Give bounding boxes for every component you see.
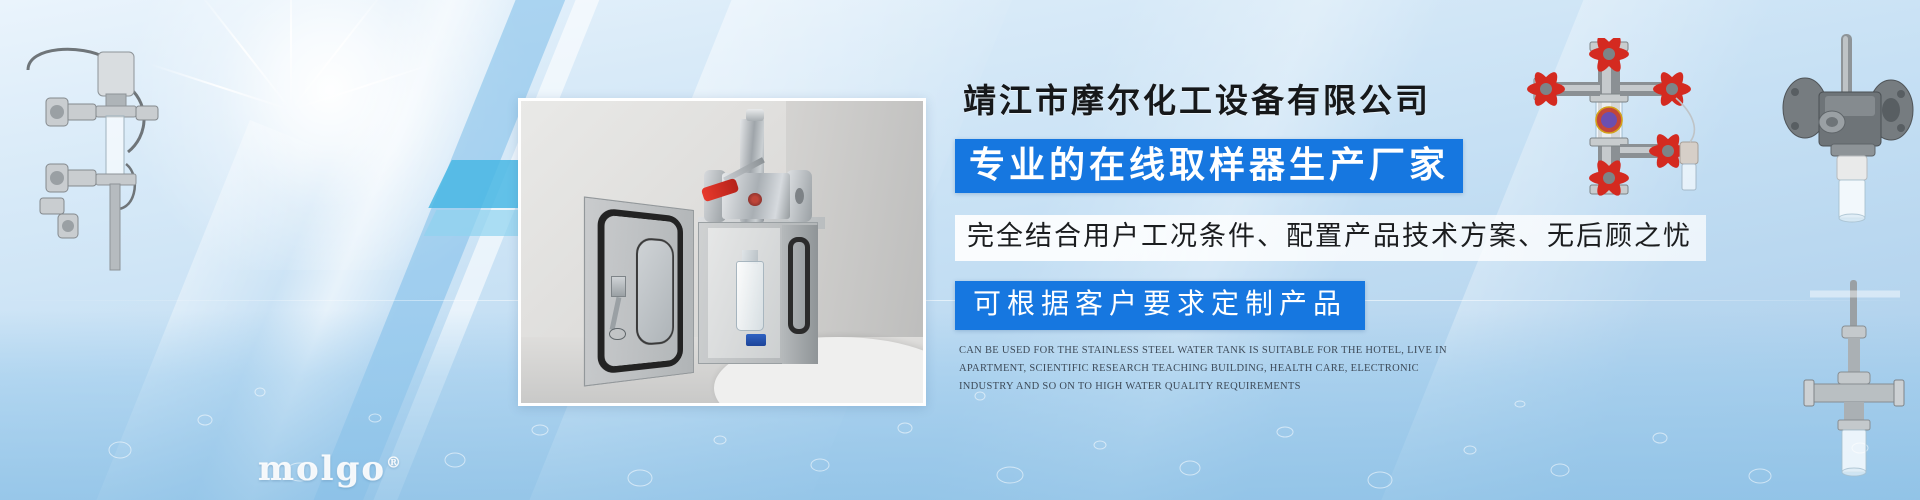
banner-copy: 靖江市摩尔化工设备有限公司 专业的在线取样器生产厂家 完全结合用户工况条件、配置… — [955, 70, 1735, 397]
tagline-custom-badge: 可根据客户要求定制产品 — [955, 281, 1365, 330]
sun-ray-icon — [291, 63, 434, 111]
company-title: 靖江市摩尔化工设备有限公司 — [963, 84, 1735, 120]
brand-watermark-text: molgo — [258, 449, 386, 489]
tagline-primary-badge: 专业的在线取样器生产厂家 — [955, 139, 1463, 193]
sun-ray-icon — [148, 63, 291, 111]
tagline-detail-badge: 完全结合用户工况条件、配置产品技术方案、无后顾之忧 — [955, 215, 1706, 261]
sun-ray-icon — [290, 0, 292, 110]
promo-banner: 靖江市摩尔化工设备有限公司 专业的在线取样器生产厂家 完全结合用户工况条件、配置… — [0, 0, 1920, 500]
english-blurb: CAN BE USED FOR THE STAINLESS STEEL WATE… — [959, 342, 1451, 397]
product-render-left-device — [10, 28, 190, 328]
brand-watermark: molgo® — [258, 452, 401, 486]
product-photo — [518, 98, 926, 406]
registered-trademark-icon: ® — [386, 454, 401, 472]
product-render-big-valve — [1775, 30, 1920, 230]
